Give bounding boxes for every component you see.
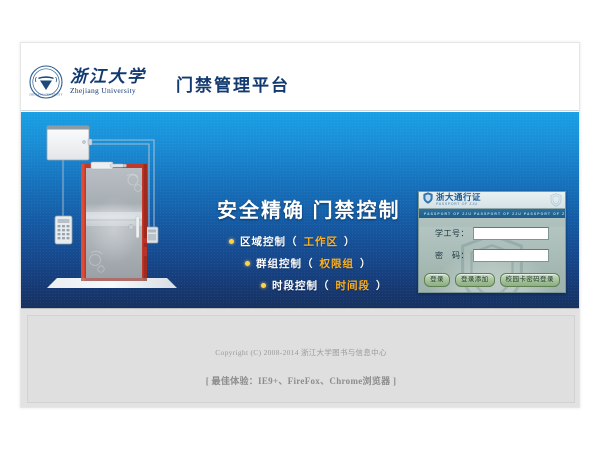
student-staff-id-input[interactable] (473, 227, 549, 240)
page-root: ZHEJIANG UNIVERSITY 浙江大学 Zhejiang Univer… (0, 0, 600, 450)
feature-tail: ） (360, 256, 372, 271)
login-form: 学工号： 密 码： 登录 登录添加 校园卡密码登录 (419, 227, 565, 293)
login-button-group: 登录 登录添加 校园卡密码登录 (419, 273, 565, 287)
student-staff-id-label: 学工号： (429, 228, 469, 239)
feature-highlight: 时间段 (336, 278, 371, 293)
glass-door-red-frame (81, 164, 147, 281)
passport-repeat-strip: PASSPORT OF ZJU PASSPORT OF ZJU PASSPORT… (419, 209, 565, 218)
app-card: ZHEJIANG UNIVERSITY 浙江大学 Zhejiang Univer… (20, 42, 580, 408)
feature-highlight: 权限组 (320, 256, 355, 271)
bullet-dot-icon (245, 261, 250, 266)
shield-watermark-icon (550, 193, 562, 212)
login-button[interactable]: 登录 (424, 273, 450, 287)
feature-item-area-control: 区域控制（工作区） (229, 234, 388, 249)
brand-name-en: Zhejiang University (70, 86, 146, 96)
card-reader (146, 227, 158, 243)
site-header: ZHEJIANG UNIVERSITY 浙江大学 Zhejiang Univer… (21, 43, 580, 111)
page-title: 门禁管理平台 (176, 71, 290, 96)
feature-label: 区域控制（ (240, 234, 298, 249)
feature-label: 群组控制（ (256, 256, 314, 271)
bullet-dot-icon (229, 239, 234, 244)
feature-tail: ） (376, 278, 388, 293)
login-title-cn: 浙大通行证 (436, 193, 481, 202)
field-row-student-staff-id: 学工号： (419, 227, 565, 240)
password-input[interactable] (473, 249, 549, 262)
login-panel: 浙大通行证 PASSPORT OF ZJU PASSPORT OF ZJU PA… (418, 191, 566, 293)
university-logo[interactable]: ZHEJIANG UNIVERSITY 浙江大学 Zhejiang Univer… (29, 65, 146, 99)
password-label: 密 码： (429, 250, 469, 261)
feature-tail: ） (344, 234, 356, 249)
footer-inner-panel: Copyright (C) 2008-2014 浙江大学图书与信息中心 [ 最佳… (27, 315, 575, 403)
keypad-reader (55, 216, 72, 244)
feature-item-group-control: 群组控制（权限组） (245, 256, 388, 271)
banner-headline: 安全精确 门禁控制 (217, 194, 401, 223)
zju-seal-icon: ZHEJIANG UNIVERSITY (29, 65, 63, 99)
bullet-dot-icon (261, 283, 266, 288)
shield-icon (423, 191, 433, 209)
brand-name-cn: 浙江大学 (70, 68, 146, 85)
door-controller-box (47, 126, 92, 160)
site-footer: Copyright (C) 2008-2014 浙江大学图书与信息中心 [ 最佳… (21, 308, 580, 408)
feature-highlight: 工作区 (304, 234, 339, 249)
svg-text:ZHEJIANG UNIVERSITY: ZHEJIANG UNIVERSITY (29, 93, 63, 96)
feature-label: 时段控制（ (272, 278, 330, 293)
brand-text-block: 浙江大学 Zhejiang University (70, 68, 146, 96)
field-row-password: 密 码： (419, 249, 565, 262)
hero-banner: 安全精确 门禁控制 区域控制（工作区） 群组控制（权限组） 时段控制（时间段） (21, 112, 580, 308)
login-title-block: 浙大通行证 PASSPORT OF ZJU (436, 193, 481, 207)
copyright-text: Copyright (C) 2008-2014 浙江大学图书与信息中心 (28, 347, 574, 358)
banner-feature-list: 区域控制（工作区） 群组控制（权限组） 时段控制（时间段） (229, 234, 388, 300)
browser-recommendation-text: [ 最佳体验：IE9+、FireFox、Chrome浏览器 ] (28, 374, 574, 387)
campus-card-login-button[interactable]: 校园卡密码登录 (500, 273, 560, 287)
feature-item-time-control: 时段控制（时间段） (261, 278, 388, 293)
login-title-en: PASSPORT OF ZJU (436, 202, 481, 207)
access-control-door-illustration (39, 120, 189, 308)
login-add-button[interactable]: 登录添加 (455, 273, 495, 287)
login-panel-header: 浙大通行证 PASSPORT OF ZJU (419, 192, 565, 209)
passport-strip-text: PASSPORT OF ZJU PASSPORT OF ZJU PASSPORT… (419, 212, 565, 216)
